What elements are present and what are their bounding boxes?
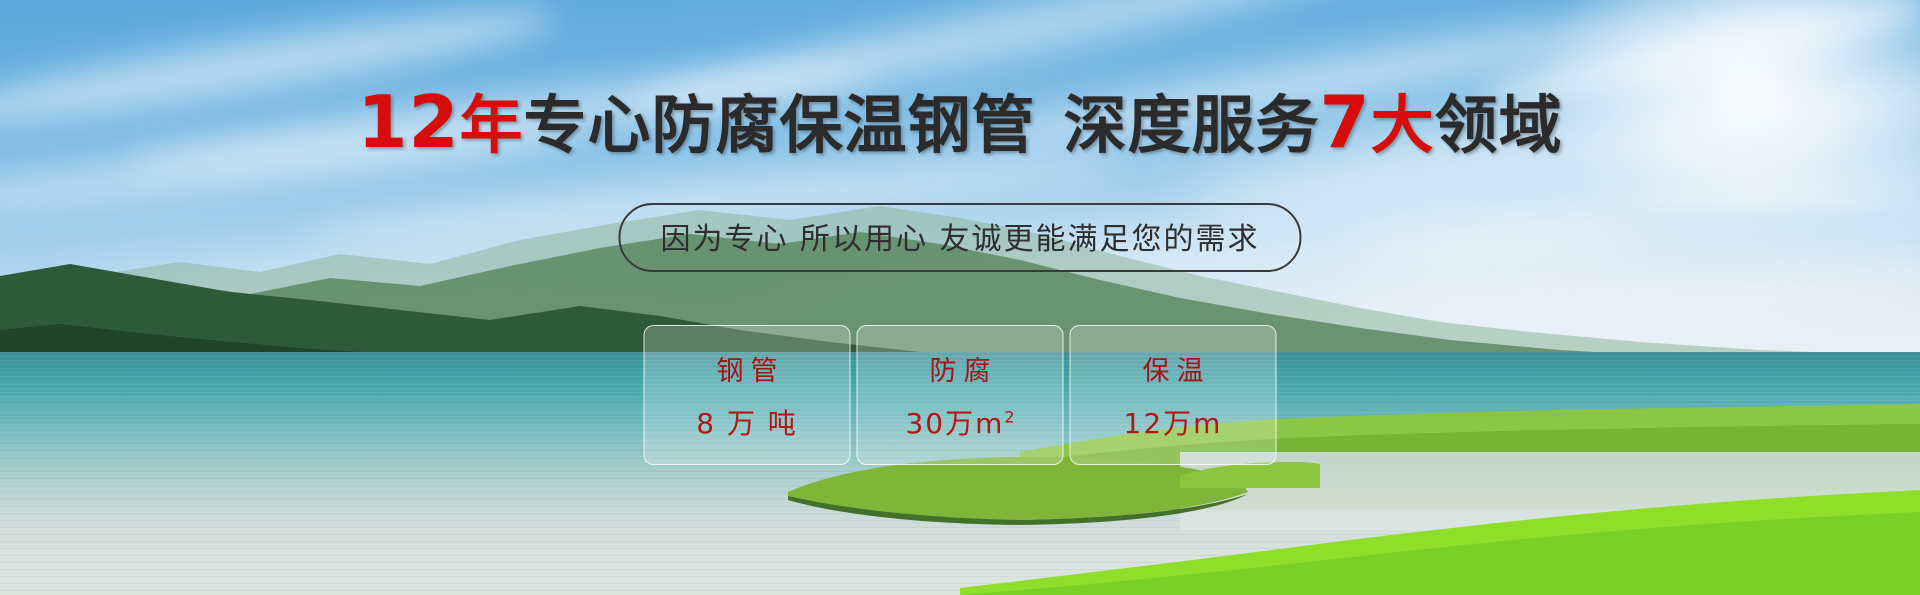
headline-fields-unit: 大 (1371, 89, 1435, 162)
stat-card-value: 12万m (1124, 402, 1223, 442)
headline-main-text: 专心防腐保温钢管 (524, 89, 1036, 162)
stat-card-insulation[interactable]: 保温 12万m (1070, 325, 1277, 465)
stat-card-value: 30万m2 (905, 402, 1014, 442)
stat-card-value-text: 12万m (1124, 407, 1223, 440)
stat-cards-row: 钢管 8 万 吨 防腐 30万m2 保温 12万m (644, 325, 1277, 465)
headline-fields-number: 7 (1320, 80, 1371, 164)
stat-card-value-text: 8 万 吨 (696, 407, 798, 440)
headline-years-number: 12 (357, 80, 459, 164)
stat-card-value-superscript: 2 (1004, 407, 1014, 426)
subtitle-pill: 因为专心 所以用心 友诚更能满足您的需求 (618, 203, 1301, 272)
stat-card-anticorrosion[interactable]: 防腐 30万m2 (857, 325, 1064, 465)
promo-banner: 12年专心防腐保温钢管深度服务7大领域 因为专心 所以用心 友诚更能满足您的需求… (0, 0, 1920, 595)
page-title: 12年专心防腐保温钢管深度服务7大领域 (0, 86, 1920, 158)
stat-card-title: 钢管 (710, 349, 785, 388)
stat-card-value: 8 万 吨 (696, 402, 798, 442)
stat-card-steel-pipe[interactable]: 钢管 8 万 吨 (644, 325, 851, 465)
stat-card-title: 保温 (1136, 349, 1211, 388)
headline-fields-text: 领域 (1435, 89, 1563, 162)
headline-years-unit: 年 (460, 89, 524, 162)
headline-service-prefix: 深度服务 (1064, 89, 1320, 162)
stat-card-title: 防腐 (923, 349, 998, 388)
stat-card-value-text: 30万m (905, 407, 1004, 440)
foreground-grass (960, 470, 1920, 595)
